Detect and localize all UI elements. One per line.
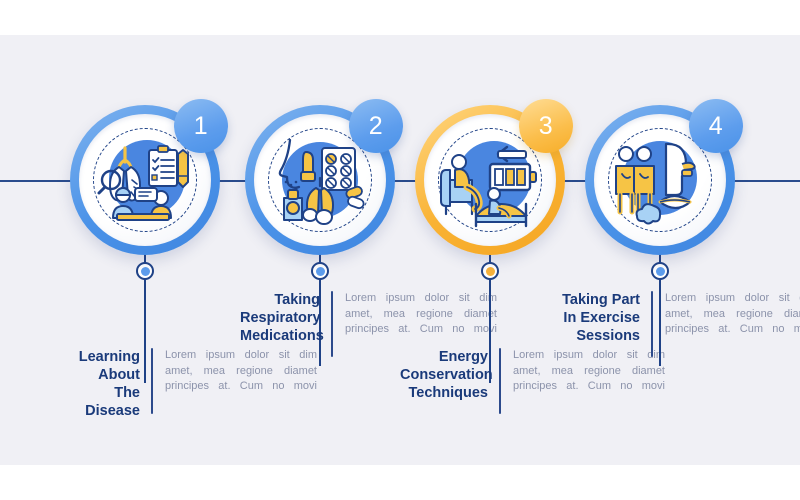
step-badge-2: 2 [349, 99, 403, 153]
step-node-4[interactable]: 4 [585, 105, 735, 255]
step-title-3: Energy Conservation Techniques [400, 348, 499, 402]
timeline-dot-4[interactable] [651, 262, 669, 280]
step-body-2: Lorem ipsum dolor sit dim amet, mea regi… [333, 291, 497, 338]
step-body-4: Lorem ipsum dolor sit dim amet, mea regi… [653, 291, 800, 338]
step-title-1: Learning About The Disease [60, 348, 151, 420]
step-text-block-1: Learning About The Disease Lorem ipsum d… [60, 348, 317, 420]
step-node-3[interactable]: 3 [415, 105, 565, 255]
step-node-1[interactable]: 1 [70, 105, 220, 255]
infographic-canvas: 1 [0, 35, 800, 465]
step-title-2: Taking Respiratory Medications [240, 291, 331, 345]
infographic-root: 1 [0, 0, 800, 500]
timeline-dot-1[interactable] [136, 262, 154, 280]
step-badge-3: 3 [519, 99, 573, 153]
step-node-2[interactable]: 2 [245, 105, 395, 255]
step-text-block-3: Energy Conservation Techniques Lorem ips… [400, 348, 665, 414]
step-title-4: Taking Part In Exercise Sessions [550, 291, 651, 345]
step-badge-4: 4 [689, 99, 743, 153]
step-text-block-4: Taking Part In Exercise Sessions Lorem i… [550, 291, 800, 357]
timeline-dot-2[interactable] [311, 262, 329, 280]
timeline-dot-3[interactable] [481, 262, 499, 280]
step-badge-1: 1 [174, 99, 228, 153]
